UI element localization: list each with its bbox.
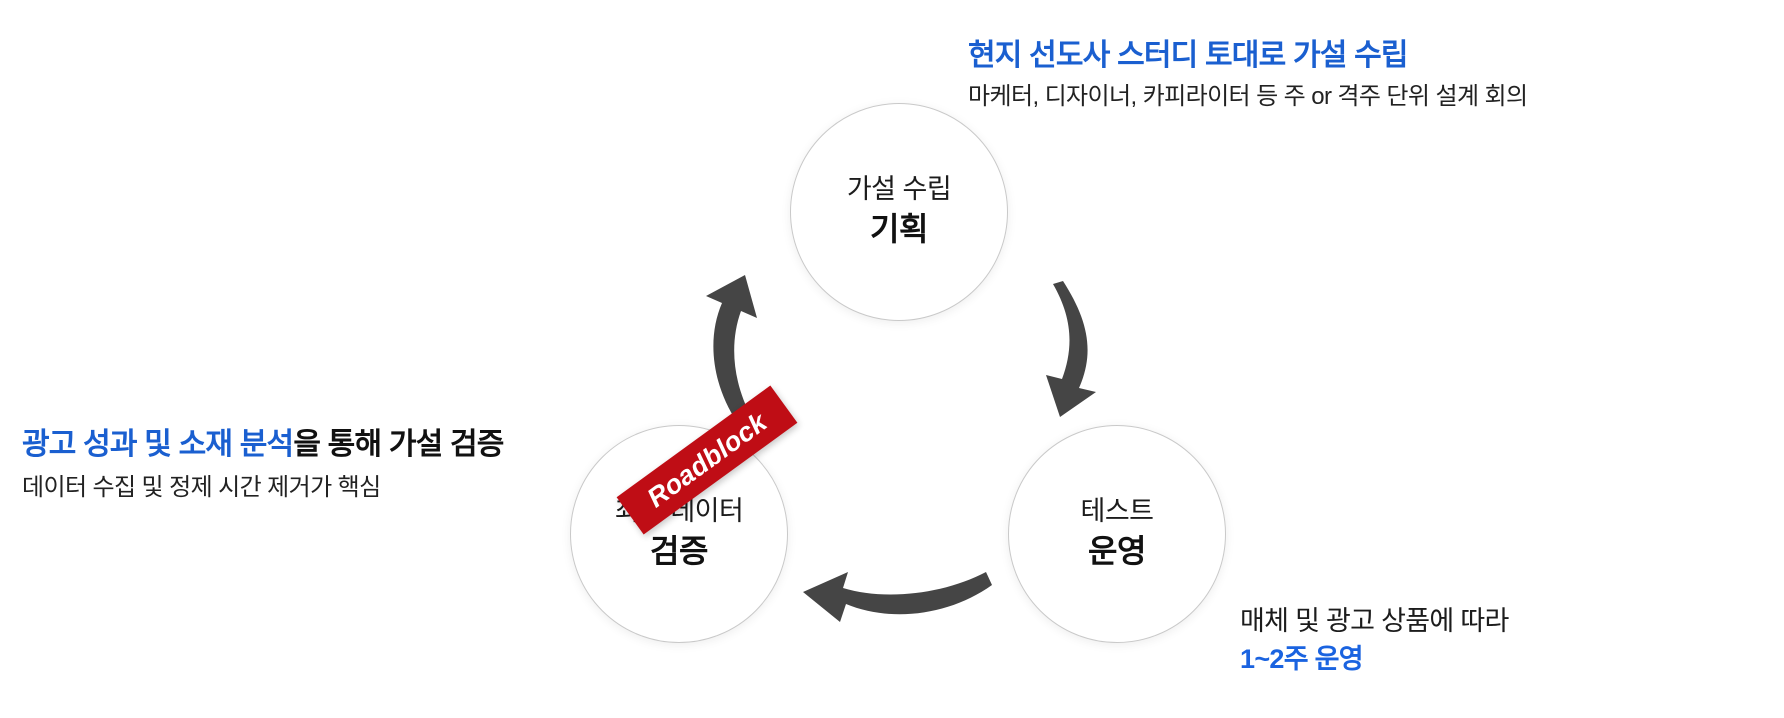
node-verify-title: 검증 — [650, 531, 708, 573]
node-ops-title: 운영 — [1088, 531, 1146, 573]
annotation-verify-title-rest: 을 통해 가설 검증 — [293, 428, 503, 461]
annotation-plan-desc: 마케터, 디자이너, 카피라이터 등 주 or 격주 단위 설계 회의 — [968, 81, 1527, 113]
cycle-node-ops[interactable]: 테스트 운영 — [1008, 425, 1226, 643]
annotation-verify-title: 광고 성과 및 소재 분석을 통해 가설 검증 — [22, 425, 504, 464]
annotation-plan: 현지 선도사 스터디 토대로 가설 수립 마케터, 디자이너, 카피라이터 등 … — [968, 36, 1527, 113]
annotation-ops: 매체 및 광고 상품에 따라 1~2주 운영 — [1240, 604, 1509, 677]
cycle-node-plan[interactable]: 가설 수립 기획 — [790, 103, 1008, 321]
diagram-canvas: 가설 수립 기획 테스트 운영 최종 데이터 검증 Roadblock 현지 선… — [0, 0, 1784, 718]
node-plan-subtitle: 가설 수립 — [847, 173, 951, 207]
annotation-verify: 광고 성과 및 소재 분석을 통해 가설 검증 데이터 수집 및 정제 시간 제… — [22, 425, 504, 504]
node-ops-subtitle: 테스트 — [1080, 495, 1153, 529]
annotation-verify-desc: 데이터 수집 및 정제 시간 제거가 핵심 — [22, 472, 504, 504]
annotation-ops-line2: 1~2주 운영 — [1240, 642, 1509, 677]
annotation-plan-title: 현지 선도사 스터디 토대로 가설 수립 — [968, 36, 1527, 75]
arrow-plan-to-ops — [1046, 281, 1096, 417]
annotation-ops-line1: 매체 및 광고 상품에 따라 — [1240, 604, 1509, 639]
annotation-verify-title-highlight: 광고 성과 및 소재 분석 — [22, 428, 293, 461]
node-plan-title: 기획 — [870, 209, 928, 251]
arrow-ops-to-verify — [803, 572, 992, 622]
